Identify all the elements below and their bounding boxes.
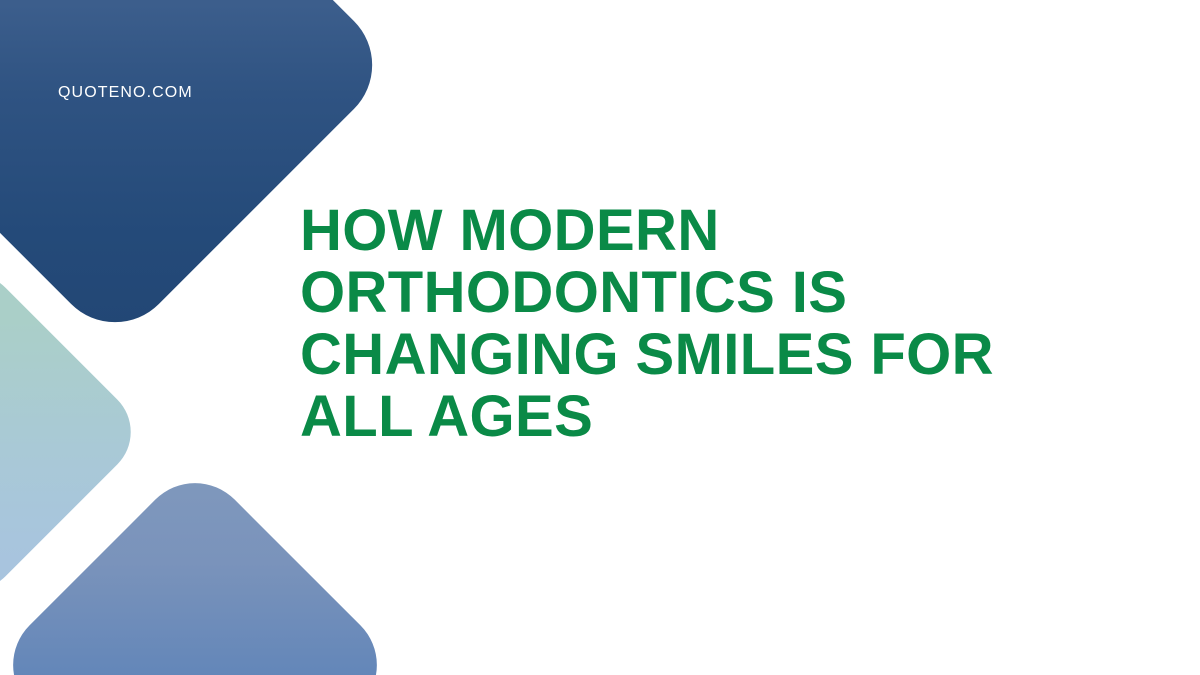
headline-line-1: HOW MODERN (300, 200, 1140, 262)
page-title: HOW MODERN ORTHODONTICS IS CHANGING SMIL… (300, 200, 1140, 448)
headline-line-2: ORTHODONTICS IS (300, 262, 1140, 324)
slide-canvas: QUOTENO.COM HOW MODERN ORTHODONTICS IS C… (0, 0, 1200, 675)
headline-line-4: ALL AGES (300, 386, 1140, 448)
brand-website-label: QUOTENO.COM (58, 85, 193, 101)
headline-line-3: CHANGING SMILES FOR (300, 324, 1140, 386)
decorative-diamond-bottom (0, 460, 400, 675)
decorative-diamond-mid-left (0, 255, 150, 609)
